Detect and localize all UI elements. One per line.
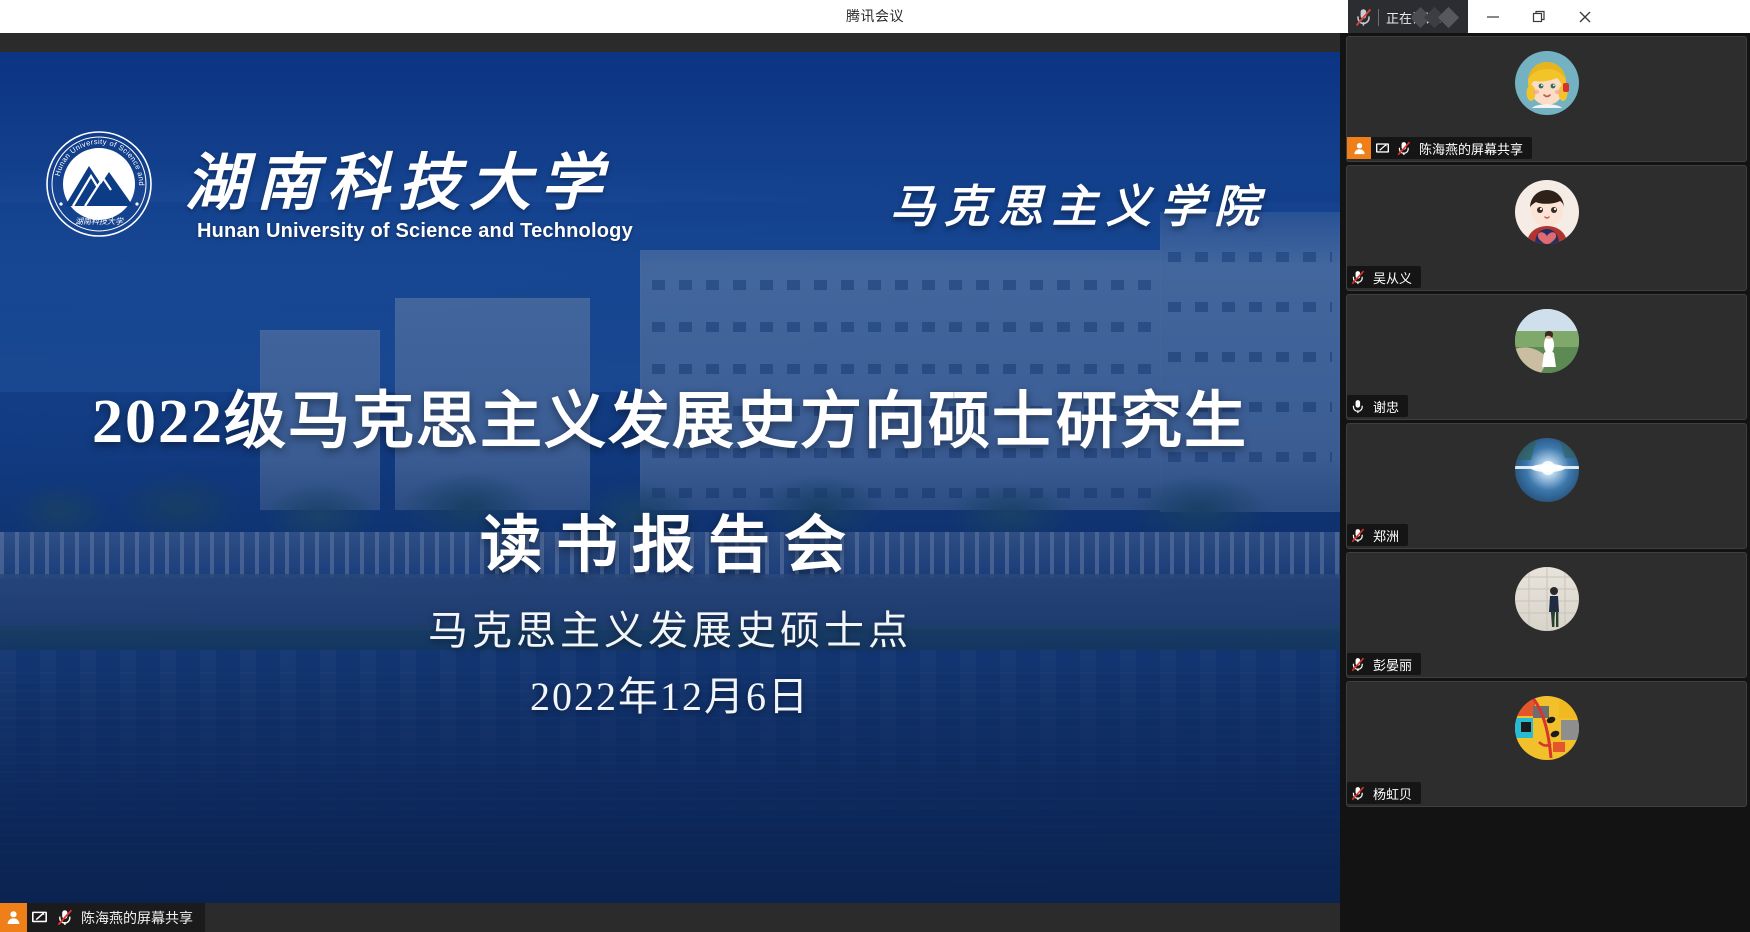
svg-text:湖南科技大学: 湖南科技大学 xyxy=(75,217,124,226)
close-icon[interactable] xyxy=(1562,0,1608,33)
avatar xyxy=(1515,309,1579,373)
participant-name: 陈海燕的屏幕共享 xyxy=(1415,139,1532,158)
restore-icon[interactable] xyxy=(1516,0,1562,33)
mic-muted-icon xyxy=(1347,653,1369,675)
mic-unmuted-icon xyxy=(1347,395,1369,417)
participant-tile[interactable]: 吴从义 xyxy=(1346,165,1747,291)
tencent-meeting-logo xyxy=(1412,2,1470,33)
participant-namebar: 杨虹贝 xyxy=(1347,782,1421,804)
participant-namebar: 谢忠 xyxy=(1347,395,1408,417)
participant-name: 郑洲 xyxy=(1369,526,1408,545)
mic-muted-icon xyxy=(1347,266,1369,288)
avatar xyxy=(1515,51,1579,115)
presentation-slide: Hunan University of Science and Technolo… xyxy=(0,52,1340,903)
participant-namebar: 郑洲 xyxy=(1347,524,1408,546)
university-name-cn: 湖南科技大学 xyxy=(185,132,611,222)
shared-screen-area[interactable]: Hunan University of Science and Technolo… xyxy=(0,52,1340,903)
participant-name: 吴从义 xyxy=(1369,268,1421,287)
participant-namebar: 吴从义 xyxy=(1347,266,1421,288)
mic-muted-icon xyxy=(1347,782,1369,804)
mic-muted-icon[interactable] xyxy=(52,903,77,932)
share-label: 陈海燕的屏幕共享 xyxy=(77,908,205,928)
minimize-icon[interactable] xyxy=(1470,0,1516,33)
participant-name: 谢忠 xyxy=(1369,397,1408,416)
university-seal-icon: Hunan University of Science and Technolo… xyxy=(45,130,153,238)
mic-muted-icon xyxy=(1393,137,1415,159)
mic-muted-icon[interactable] xyxy=(1348,0,1378,35)
screen-share-taskbar: 陈海燕的屏幕共享 xyxy=(0,903,1340,932)
participant-icon[interactable] xyxy=(0,903,27,932)
pill-divider xyxy=(1378,9,1379,26)
college-name: 马克思主义学院 xyxy=(890,170,1268,235)
participant-tile[interactable]: 彭晏丽 xyxy=(1346,552,1747,678)
university-logo-block: Hunan University of Science and Technolo… xyxy=(45,130,605,260)
participant-namebar: 彭晏丽 xyxy=(1347,653,1421,675)
slide-subtitle: 马克思主义发展史硕士点 xyxy=(0,598,1340,656)
participant-name: 杨虹贝 xyxy=(1369,784,1421,803)
participant-name: 彭晏丽 xyxy=(1369,655,1421,674)
avatar xyxy=(1515,696,1579,760)
participant-namebar: 陈海燕的屏幕共享 xyxy=(1347,137,1532,159)
window-titlebar: 腾讯会议 正在讲话: xyxy=(0,0,1750,33)
avatar xyxy=(1515,180,1579,244)
avatar xyxy=(1515,567,1579,631)
avatar xyxy=(1515,438,1579,502)
host-participant-icon xyxy=(1347,137,1371,159)
screen-share-icon xyxy=(1371,137,1393,159)
slide-title-line1: 2022级马克思主义发展史方向硕士研究生 xyxy=(0,370,1340,460)
participant-tile[interactable]: 郑洲 xyxy=(1346,423,1747,549)
screen-share-icon[interactable] xyxy=(27,903,52,932)
participant-panel[interactable]: 陈海燕的屏幕共享 xyxy=(1340,33,1750,932)
participant-tile[interactable]: 杨虹贝 xyxy=(1346,681,1747,807)
participant-tile[interactable]: 陈海燕的屏幕共享 xyxy=(1346,36,1747,162)
mic-muted-icon xyxy=(1347,524,1369,546)
university-name-en: Hunan University of Science and Technolo… xyxy=(197,220,633,243)
share-status-badge[interactable]: 陈海燕的屏幕共享 xyxy=(0,903,205,932)
slide-title-line2: 读书报告会 xyxy=(0,494,1340,584)
slide-date: 2022年12月6日 xyxy=(0,664,1340,722)
participant-tile[interactable]: 谢忠 xyxy=(1346,294,1747,420)
